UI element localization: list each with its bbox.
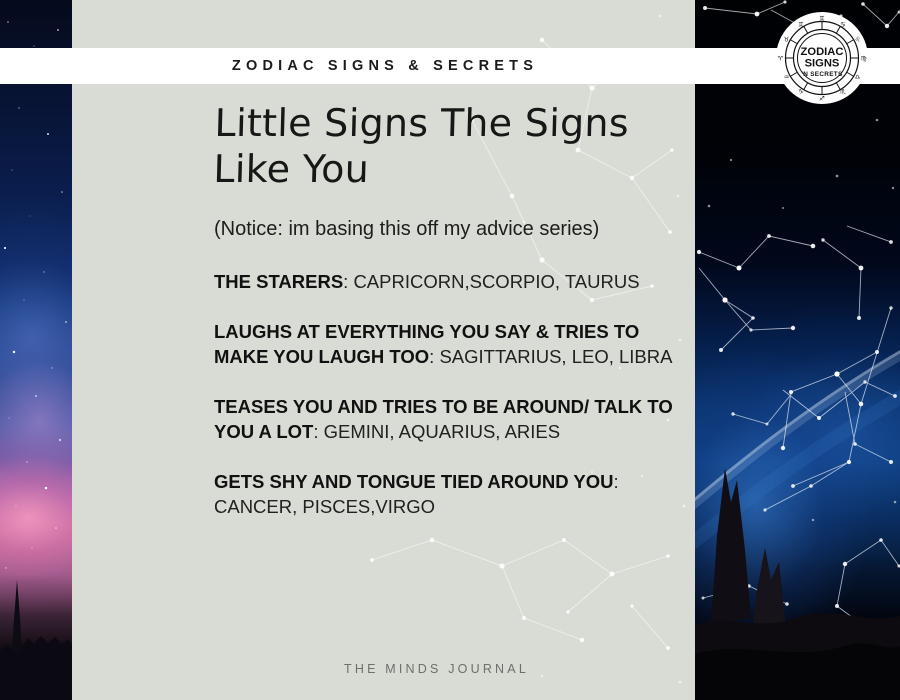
svg-text:♐: ♐: [819, 94, 825, 102]
svg-text:♋: ♋: [840, 21, 846, 29]
entry-signs: : GEMINI, AQUARIUS, ARIES: [313, 421, 560, 442]
svg-text:♊: ♊: [819, 14, 825, 22]
svg-text:♍: ♍: [861, 54, 867, 62]
svg-text:♊: ♊: [798, 21, 804, 29]
logo-line2: SIGNS: [805, 58, 840, 70]
page-title: Little Signs The Signs Like You: [213, 100, 675, 193]
svg-text:♎: ♎: [855, 73, 861, 81]
svg-text:♈: ♈: [778, 54, 784, 62]
svg-text:♌: ♌: [855, 36, 861, 44]
notice-text: (Notice: im basing this off my advice se…: [214, 215, 674, 243]
left-starfield: [0, 0, 72, 700]
entry-laughs: LAUGHS AT EVERYTHING YOU SAY & TRIES TO …: [214, 319, 674, 370]
entry-teases: TEASES YOU AND TRIES TO BE AROUND/ TALK …: [214, 394, 674, 445]
entry-lead: THE STARERS: [214, 271, 343, 292]
entry-starers: THE STARERS: CAPRICORN,SCORPIO, TAURUS: [214, 269, 674, 295]
center-content-card: Little Signs The Signs Like You (Notice:…: [72, 0, 695, 700]
svg-text:♒: ♒: [784, 73, 790, 81]
zodiac-logo[interactable]: ♊ ♋ ♌ ♍ ♎ ♏ ♐ ♑ ♒ ♈ ♉ ♊ ZODIAC SIGNS 'N …: [776, 12, 868, 104]
entry-signs: : CAPRICORN,SCORPIO, TAURUS: [343, 271, 639, 292]
logo-line3: 'N SECRETS: [801, 71, 843, 78]
logo-line1: ZODIAC: [801, 46, 844, 58]
poster-text-content: Little Signs The Signs Like You (Notice:…: [214, 100, 674, 544]
svg-text:♉: ♉: [784, 36, 790, 44]
svg-text:♏: ♏: [840, 88, 846, 96]
svg-text:♑: ♑: [798, 88, 804, 96]
banner-title: ZODIAC SIGNS & SECRETS: [0, 48, 770, 84]
entry-shy: GETS SHY AND TONGUE TIED AROUND YOU: CAN…: [214, 469, 674, 520]
left-space-strip: [0, 0, 72, 700]
entry-lead: GETS SHY AND TONGUE TIED AROUND YOU: [214, 471, 614, 492]
right-rock-spires: [695, 440, 900, 700]
footer-brand: THE MINDS JOURNAL: [344, 662, 529, 676]
poster-canvas: Little Signs The Signs Like You (Notice:…: [0, 0, 900, 700]
entry-signs: : SAGITTARIUS, LEO, LIBRA: [429, 346, 672, 367]
right-space-panel: [695, 0, 900, 700]
